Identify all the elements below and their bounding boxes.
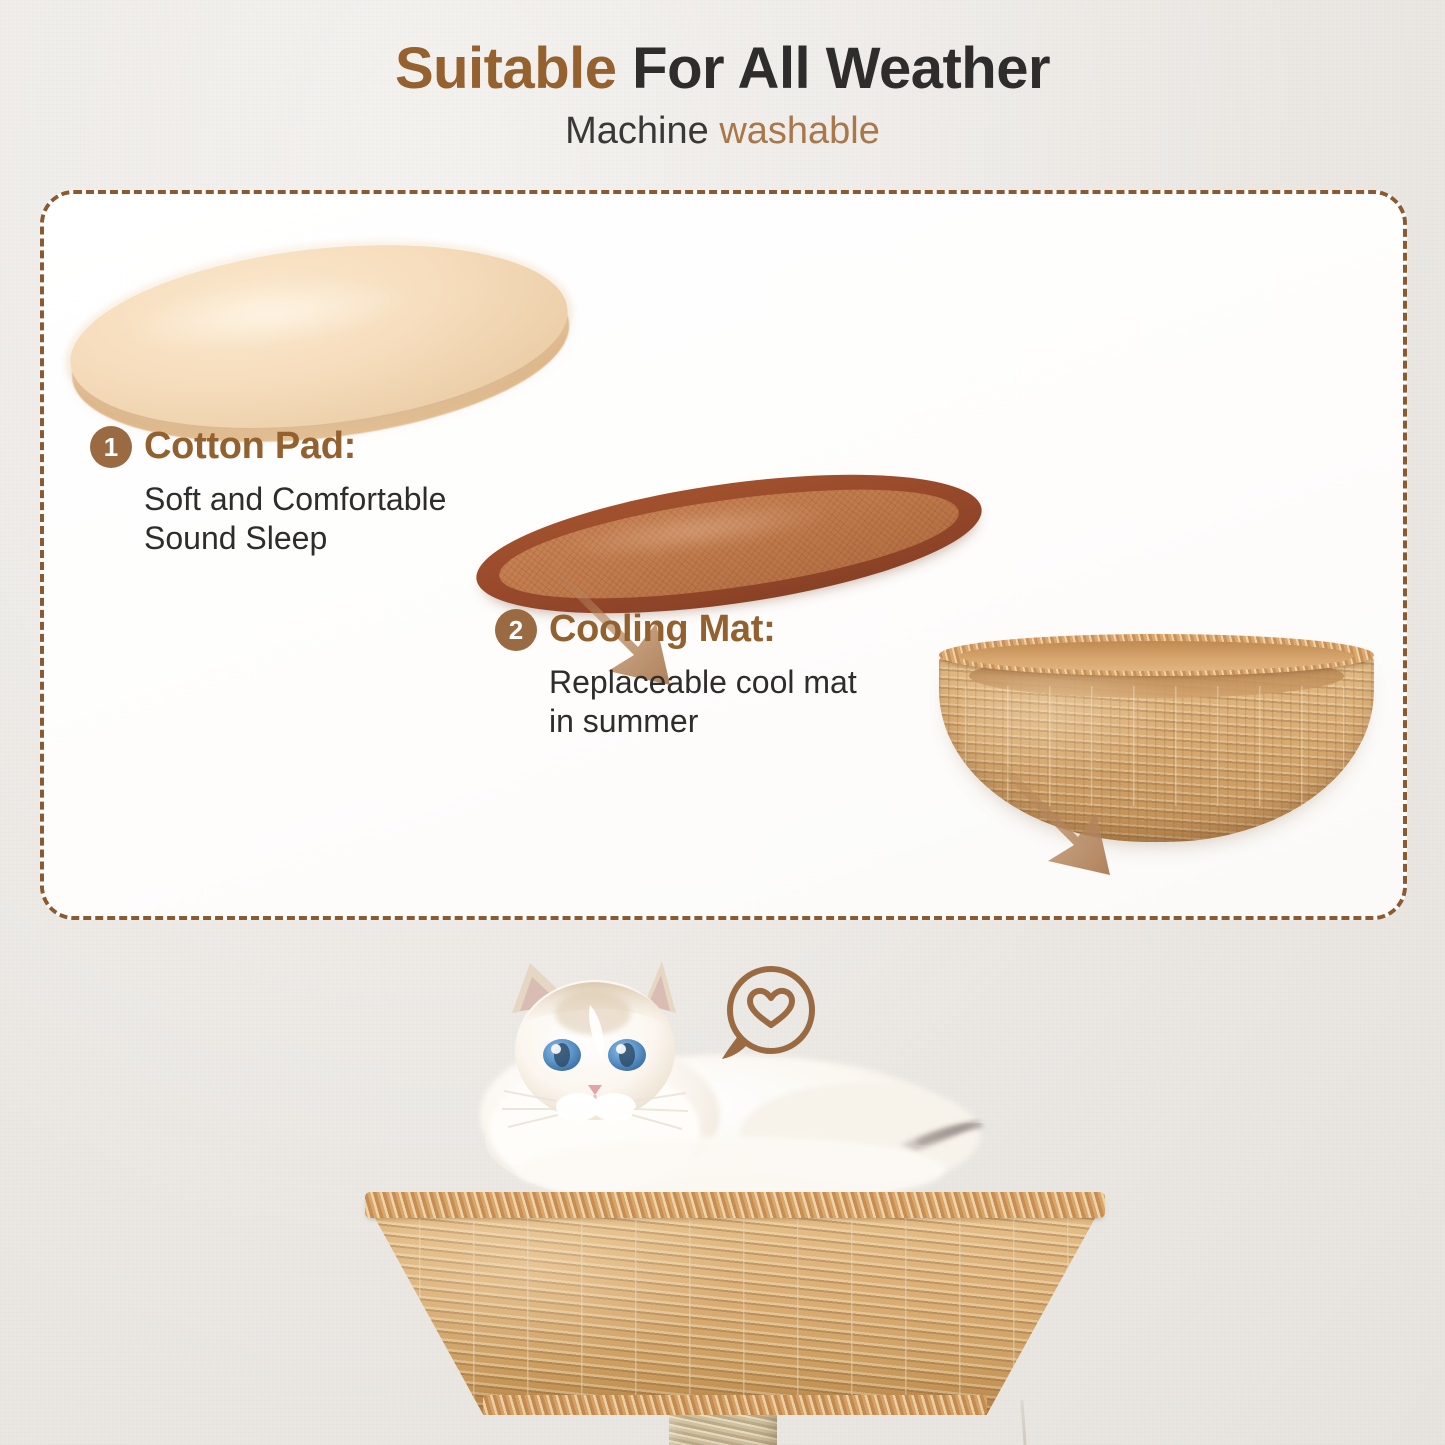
feature-title: Cotton Pad: xyxy=(144,425,356,468)
feature-title: Cooling Mat: xyxy=(549,608,775,651)
page-subtitle-dark: Machine xyxy=(565,110,719,152)
page-subtitle: Machine washable xyxy=(0,111,1445,153)
feature-heading: 2 Cooling Mat: xyxy=(495,608,857,651)
feature-number-badge: 1 xyxy=(90,426,132,468)
basket-bottom-rim xyxy=(483,1395,986,1415)
feature-number-badge: 2 xyxy=(495,609,537,651)
basket-weave-wall xyxy=(365,1200,1105,1415)
basket-top-rim xyxy=(365,1192,1105,1218)
rattan-cat-bed-basket xyxy=(365,1180,1105,1415)
cotton-pad-product-image xyxy=(61,221,578,451)
ragdoll-kitten-photo xyxy=(430,955,990,1200)
basket-rim-opening xyxy=(959,641,1355,671)
feature-description: Replaceable cool mat in summer xyxy=(549,663,857,741)
page-title-rest: For All Weather xyxy=(617,36,1051,101)
feature-description: Soft and Comfortable Sound Sleep xyxy=(144,480,446,558)
feature-label-cooling-mat: 2 Cooling Mat: Replaceable cool mat in s… xyxy=(495,608,857,741)
page-title-accent: Suitable xyxy=(395,36,617,101)
heart-speech-bubble-icon xyxy=(712,962,822,1070)
page-subtitle-accent: washable xyxy=(719,110,880,152)
header: Suitable For All Weather Machine washabl… xyxy=(0,38,1445,152)
arrow-down-right-icon xyxy=(974,749,1149,879)
basket-rolled-rim xyxy=(939,634,1374,676)
feature-label-cotton-pad: 1 Cotton Pad: Soft and Comfortable Sound… xyxy=(90,425,446,558)
feature-heading: 1 Cotton Pad: xyxy=(90,425,446,468)
page-title: Suitable For All Weather xyxy=(0,38,1445,101)
